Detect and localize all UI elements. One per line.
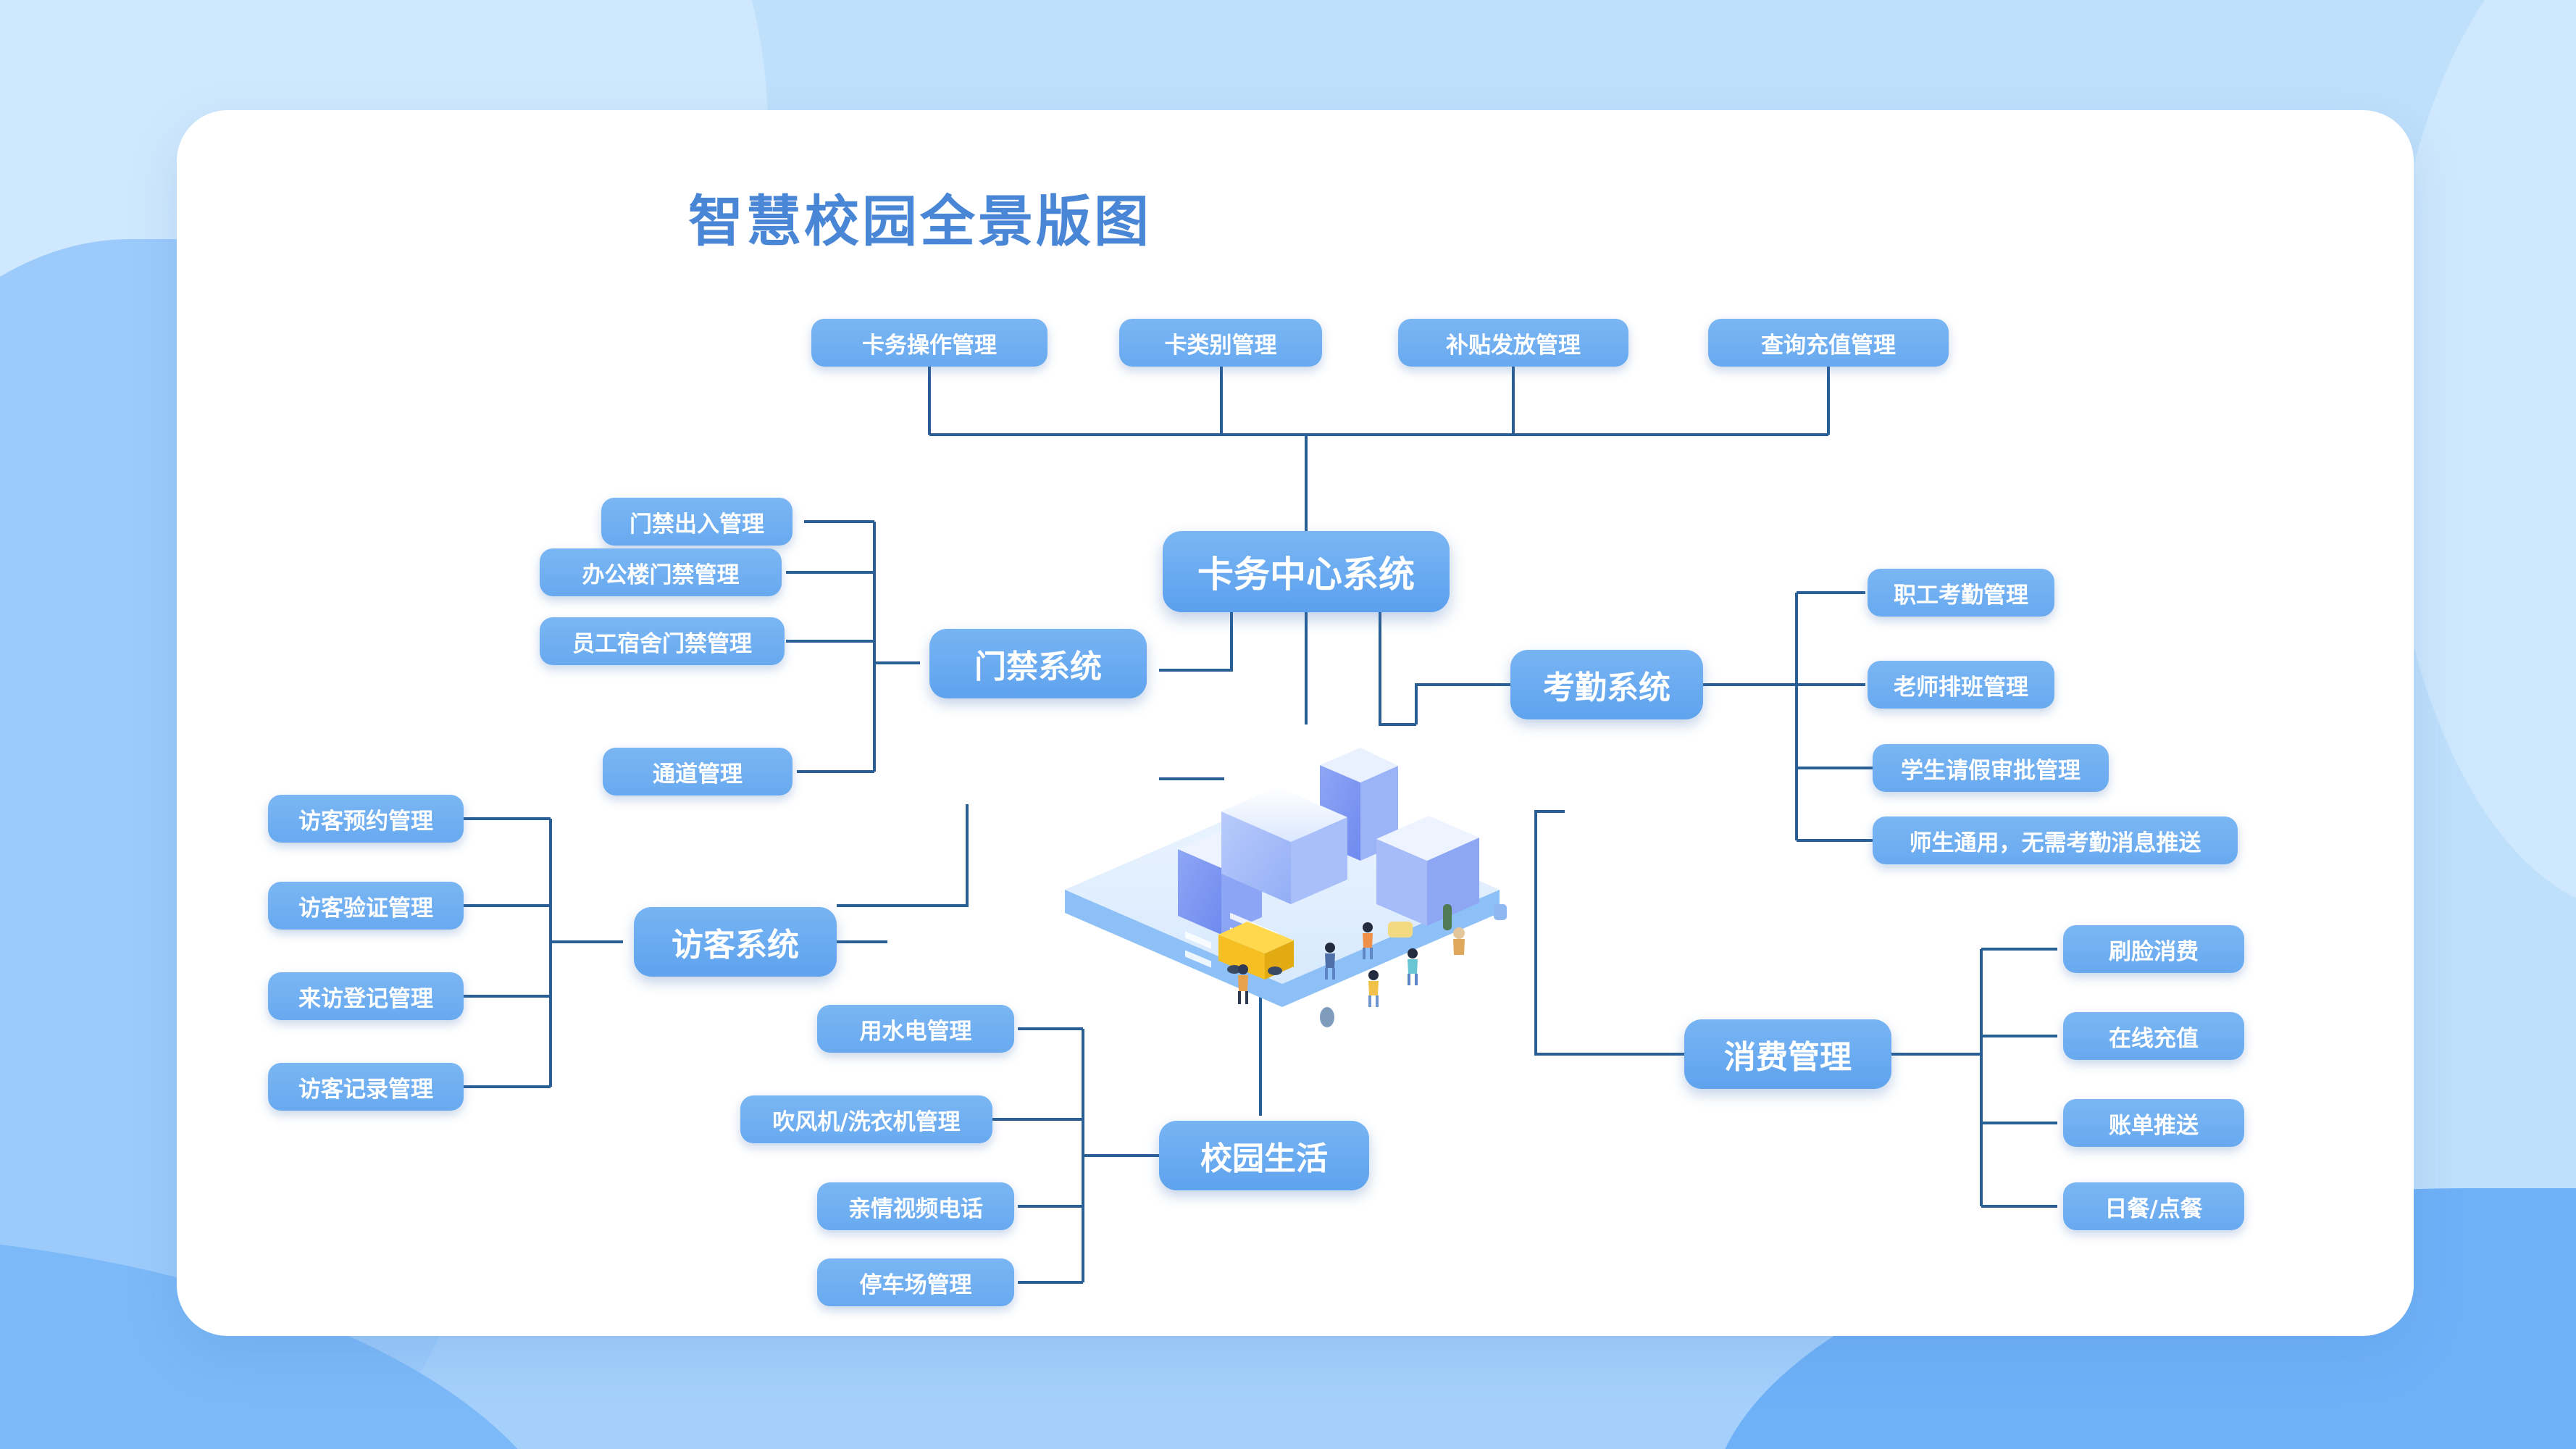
node-parking-lot-management[interactable]: 停车场管理: [817, 1258, 1014, 1306]
node-teacher-shift-management[interactable]: 老师排班管理: [1868, 661, 2054, 709]
node-passage-management[interactable]: 通道管理: [603, 748, 793, 796]
node-staff-dormitory-access[interactable]: 员工宿舍门禁管理: [540, 617, 785, 665]
node-visit-registration-management[interactable]: 来访登记管理: [268, 972, 464, 1020]
node-visitor-appointment-management[interactable]: 访客预约管理: [268, 795, 464, 843]
node-query-recharge-management[interactable]: 查询充值管理: [1708, 319, 1949, 367]
hub-access-control-system[interactable]: 门禁系统: [929, 629, 1147, 698]
hub-campus-life[interactable]: 校园生活: [1159, 1121, 1369, 1190]
hub-attendance-system[interactable]: 考勤系统: [1510, 650, 1703, 719]
node-card-category-management[interactable]: 卡类别管理: [1119, 319, 1322, 367]
node-water-electricity-management[interactable]: 用水电管理: [817, 1005, 1014, 1053]
campus-illustration: [1036, 696, 1529, 1036]
node-card-operation-management[interactable]: 卡务操作管理: [811, 319, 1047, 367]
node-face-recognition-payment[interactable]: 刷脸消费: [2063, 925, 2244, 973]
node-staff-attendance-management[interactable]: 职工考勤管理: [1868, 569, 2054, 617]
node-online-recharge[interactable]: 在线充值: [2063, 1012, 2244, 1060]
node-visitor-record-management[interactable]: 访客记录管理: [268, 1063, 464, 1111]
node-visitor-verification-management[interactable]: 访客验证管理: [268, 882, 464, 930]
node-subsidy-issue-management[interactable]: 补贴发放管理: [1398, 319, 1628, 367]
node-student-leave-approval-management[interactable]: 学生请假审批管理: [1873, 744, 2109, 792]
node-hairdryer-washer-management[interactable]: 吹风机/洗衣机管理: [740, 1095, 992, 1143]
node-office-building-access[interactable]: 办公楼门禁管理: [540, 548, 782, 596]
node-meal-ordering[interactable]: 日餐/点餐: [2063, 1182, 2244, 1230]
hub-consumption-management[interactable]: 消费管理: [1684, 1019, 1891, 1089]
node-card-center-system[interactable]: 卡务中心系统: [1163, 531, 1450, 612]
node-access-entry-management[interactable]: 门禁出入管理: [601, 498, 793, 546]
node-family-video-call[interactable]: 亲情视频电话: [817, 1182, 1014, 1230]
hub-visitor-system[interactable]: 访客系统: [634, 907, 837, 977]
node-attendance-message-push[interactable]: 师生通用，无需考勤消息推送: [1873, 817, 2238, 864]
node-bill-push[interactable]: 账单推送: [2063, 1099, 2244, 1147]
